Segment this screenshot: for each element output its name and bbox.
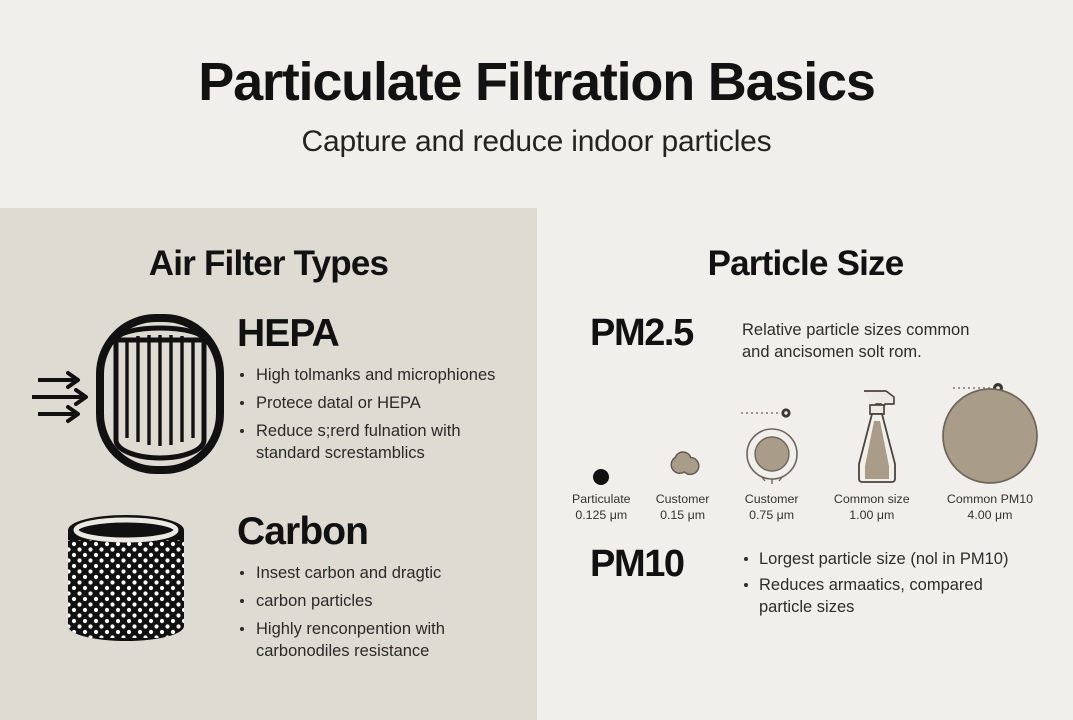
scale-caption: Particulate 0.125 μm xyxy=(572,492,631,523)
list-item: Insest carbon and dragtic xyxy=(237,563,506,585)
list-item: Protece datal or HEPA xyxy=(237,393,506,415)
pm25-description: Relative particle sizes common and ancis… xyxy=(742,314,997,363)
pm25-label: PM2.5 xyxy=(590,314,742,352)
pleated-cylinder-filter-icon xyxy=(30,310,230,478)
hepa-bullet-list: High tolmanks and microphiones Protece d… xyxy=(237,365,537,465)
list-item: Reduce s;rerd fulnation with standard sc… xyxy=(237,421,506,465)
filter-block-carbon: Carbon Insest carbon and dragtic carbon … xyxy=(0,508,537,669)
particle-size-panel: Particle Size PM2.5 Relative particle si… xyxy=(538,208,1073,720)
scale-caption: Customer 0.75 μm xyxy=(745,492,799,523)
scale-art xyxy=(935,381,1045,485)
carbon-mesh-cylinder-icon xyxy=(60,508,200,648)
scale-art xyxy=(834,381,910,485)
scale-caption-size: 1.00 μm xyxy=(834,508,910,524)
pm25-row: PM2.5 Relative particle sizes common and… xyxy=(538,314,1073,363)
filter-name-carbon: Carbon xyxy=(237,512,537,551)
left-panel-title: Air Filter Types xyxy=(0,244,537,284)
ringed-circle-icon xyxy=(735,403,809,485)
list-item: Lorgest particle size (nol in PM10) xyxy=(742,549,1034,571)
scale-caption: Customer 0.15 μm xyxy=(656,492,710,523)
scale-item-common-pm10: Common PM10 4.00 μm xyxy=(935,381,1045,523)
list-item: Reduces armaatics, compared particle siz… xyxy=(742,575,1034,619)
scale-caption-name: Customer xyxy=(656,492,710,506)
scale-caption-size: 0.75 μm xyxy=(745,508,799,524)
scale-caption-name: Customer xyxy=(745,492,799,506)
scale-caption: Common size 1.00 μm xyxy=(834,492,910,523)
scale-caption: Common PM10 4.00 μm xyxy=(947,492,1033,523)
scale-item-customer-075: Customer 0.75 μm xyxy=(735,381,809,523)
dotted-leader-icon xyxy=(741,409,791,418)
scale-art xyxy=(735,381,809,485)
particle-size-scale: Particulate 0.125 μm Customer 0.15 μm xyxy=(538,381,1073,523)
large-circle-icon xyxy=(935,381,1045,485)
scale-caption-size: 4.00 μm xyxy=(947,508,1033,524)
air-filter-types-panel: Air Filter Types xyxy=(0,208,537,720)
hepa-text-group: HEPA High tolmanks and microphiones Prot… xyxy=(237,310,537,471)
pm10-bullet-list: Lorgest particle size (nol in PM10) Redu… xyxy=(742,545,1034,623)
scale-item-particulate: Particulate 0.125 μm xyxy=(572,381,631,523)
solid-dot-icon xyxy=(586,455,616,485)
trefoil-blob-icon xyxy=(660,441,706,485)
pm10-label: PM10 xyxy=(590,545,742,583)
infographic-canvas: Particulate Filtration Basics Capture an… xyxy=(0,0,1073,720)
filter-block-hepa: HEPA High tolmanks and microphiones Prot… xyxy=(0,310,537,478)
scale-art xyxy=(586,381,616,485)
scale-item-customer-015: Customer 0.15 μm xyxy=(656,381,710,523)
scale-item-common-size: Common size 1.00 μm xyxy=(834,381,910,523)
hepa-icon-group xyxy=(22,310,237,478)
scale-art xyxy=(660,381,706,485)
scale-caption-name: Common size xyxy=(834,492,910,506)
list-item: carbon particles xyxy=(237,591,506,613)
filter-name-hepa: HEPA xyxy=(237,314,537,353)
scale-caption-name: Common PM10 xyxy=(947,492,1033,506)
carbon-bullet-list: Insest carbon and dragtic carbon particl… xyxy=(237,563,537,663)
list-item: High tolmanks and microphiones xyxy=(237,365,506,387)
scale-caption-size: 0.15 μm xyxy=(656,508,710,524)
page-title: Particulate Filtration Basics xyxy=(198,54,874,111)
page-subtitle: Capture and reduce indoor particles xyxy=(302,125,772,159)
carbon-text-group: Carbon Insest carbon and dragtic carbon … xyxy=(237,508,537,669)
spray-bottle-icon xyxy=(834,381,910,485)
airflow-arrows-icon xyxy=(32,373,86,421)
header-banner: Particulate Filtration Basics Capture an… xyxy=(0,0,1073,208)
list-item: Highly renconpention with carbonodiles r… xyxy=(237,619,506,663)
right-panel-title: Particle Size xyxy=(538,244,1073,284)
pm10-row: PM10 Lorgest particle size (nol in PM10)… xyxy=(538,545,1073,623)
scale-caption-name: Particulate xyxy=(572,492,631,506)
scale-caption-size: 0.125 μm xyxy=(572,508,631,524)
carbon-icon-group xyxy=(22,508,237,648)
